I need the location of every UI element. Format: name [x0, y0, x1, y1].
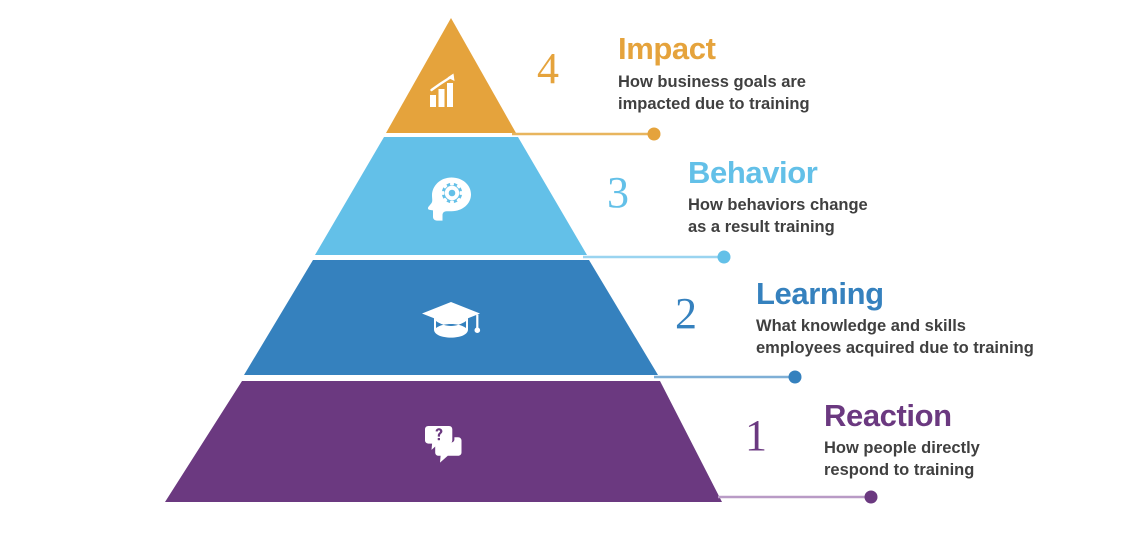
- tier-description-reaction-line2: respond to training: [824, 460, 980, 482]
- tier-number-1: 1: [745, 414, 766, 458]
- tier-number-2: 2: [675, 292, 696, 336]
- tier-title-impact[interactable]: Impact: [618, 33, 716, 64]
- tier-description-impact: How business goals are impacted due to t…: [618, 72, 810, 116]
- tier-number-3: 3: [607, 171, 628, 215]
- tier-title-learning[interactable]: Learning: [756, 278, 884, 309]
- connector-reaction: [718, 491, 878, 504]
- tier-number-4: 4: [537, 47, 558, 91]
- connector-behavior: [583, 251, 731, 264]
- tier-description-behavior-line2: as a result training: [688, 217, 868, 239]
- tier-description-learning: What knowledge and skills employees acqu…: [756, 316, 1034, 360]
- connector-learning: [654, 371, 802, 384]
- tier-description-reaction-line1: How people directly: [824, 438, 980, 460]
- tier-description-learning-line1: What knowledge and skills: [756, 316, 1034, 338]
- pyramid-diagram: 4 Impact How business goals are impacted…: [0, 0, 1138, 544]
- tier-description-reaction: How people directly respond to training: [824, 438, 980, 482]
- tier-description-impact-line1: How business goals are: [618, 72, 810, 94]
- tier-description-behavior-line1: How behaviors change: [688, 195, 868, 217]
- tier-description-impact-line2: impacted due to training: [618, 94, 810, 116]
- connector-impact: [512, 128, 661, 141]
- tier-description-behavior: How behaviors change as a result trainin…: [688, 195, 868, 239]
- tier-description-learning-line2: employees acquired due to training: [756, 338, 1034, 360]
- tier-title-reaction[interactable]: Reaction: [824, 400, 952, 431]
- tier-title-behavior[interactable]: Behavior: [688, 157, 817, 188]
